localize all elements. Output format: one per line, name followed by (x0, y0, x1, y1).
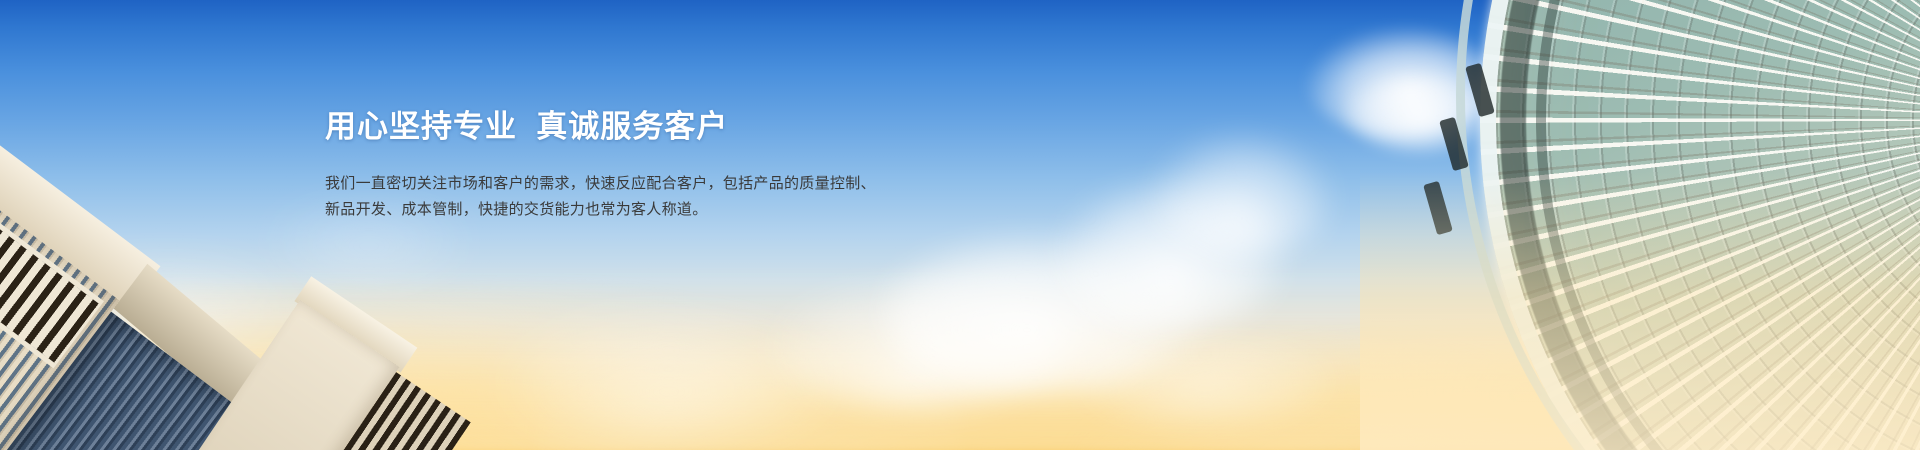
banner-headline: 用心坚持专业 真诚服务客户 (325, 108, 885, 147)
banner-body-line-2: 新品开发、成本管制，快捷的交货能力也常为客人称道。 (325, 197, 885, 223)
glass-outer-rim-secondary (1456, 0, 1920, 450)
banner-body: 我们一直密切关注市场和客户的需求，快速反应配合客户，包括产品的质量控制、 新品开… (325, 171, 885, 223)
right-curved-glass-building (1360, 0, 1920, 450)
cloud (1152, 135, 1332, 255)
cloud (1075, 333, 1335, 423)
hero-banner: 用心坚持专业 真诚服务客户 我们一直密切关注市场和客户的需求，快速反应配合客户，… (0, 0, 1920, 450)
banner-body-line-1: 我们一直密切关注市场和客户的需求，快速反应配合客户，包括产品的质量控制、 (325, 171, 885, 197)
banner-copy: 用心坚持专业 真诚服务客户 我们一直密切关注市场和客户的需求，快速反应配合客户，… (325, 108, 885, 223)
facade-window-slot (1423, 181, 1453, 235)
